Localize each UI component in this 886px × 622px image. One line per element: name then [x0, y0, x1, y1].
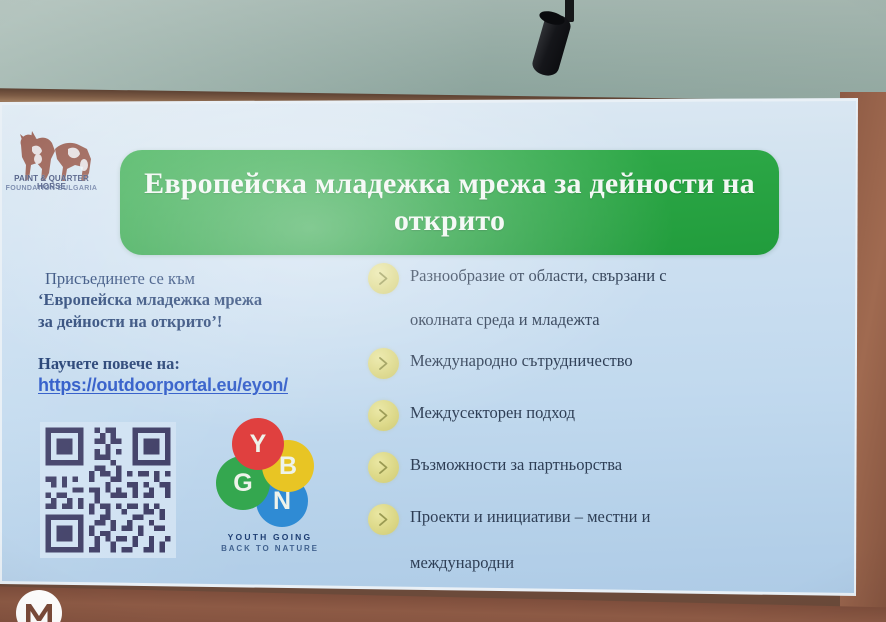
bullet-continuation: околната среда и младежта — [368, 310, 788, 330]
page-title: Европейска младежка мрежа за дейности на… — [120, 166, 779, 239]
chevron-right-icon — [368, 348, 399, 379]
ygn-circle-y: Y — [232, 418, 284, 470]
ceiling-shading — [0, 0, 886, 104]
bullet-text: Проекти и инициативи – местни и — [410, 503, 788, 527]
chevron-right-icon — [368, 263, 399, 294]
ygn-caption-line-2: BACK TO NATURE — [206, 544, 334, 553]
camera-watermark-bar: заснето с moto g54 5G — [0, 588, 886, 622]
motorola-logo-icon — [16, 590, 62, 622]
bullet-text: Междусекторен подход — [410, 399, 788, 423]
bullet-text: Възможности за партньорства — [410, 451, 788, 475]
list-item: Възможности за партньорства — [368, 451, 788, 483]
ygn-logo: Y B G N YOUTH GOING BACK TO NATURE — [210, 418, 330, 558]
learn-more-label: Научете повече на: — [38, 354, 358, 374]
bullet-text: Разнообразие от области, свързани с — [410, 262, 788, 286]
chevron-right-icon — [368, 504, 399, 535]
join-line-3: за дейности на открито’! — [38, 311, 358, 332]
join-line-1: Присъединете се към — [38, 268, 358, 289]
chevron-right-icon — [368, 452, 399, 483]
org-logo-subtitle: FOUNDATION BULGARIA — [3, 185, 100, 192]
bullet-continuation: международни — [368, 553, 788, 573]
slide-title-banner: Европейска младежка мрежа за дейности на… — [120, 150, 779, 255]
bullet-list: Разнообразие от области, свързани с окол… — [368, 262, 788, 573]
eyon-portal-link[interactable]: https://outdoorportal.eu/eyon/ — [38, 375, 288, 396]
join-invitation: Присъединете се към ‘Европейска младежка… — [38, 268, 358, 332]
left-column: Присъединете се към ‘Европейска младежка… — [38, 268, 358, 396]
list-item: Международно сътрудничество — [368, 347, 788, 379]
chevron-right-icon — [368, 400, 399, 431]
photo-scene: PAINT & QUARTER HORSE FOUNDATION BULGARI… — [0, 0, 886, 622]
list-item: Междусекторен подход — [368, 399, 788, 431]
bullet-text: Международно сътрудничество — [410, 347, 788, 371]
ygn-caption-line-1: YOUTH GOING — [206, 532, 334, 542]
list-item: Разнообразие от области, свързани с — [368, 262, 788, 294]
list-item: Проекти и инициативи – местни и — [368, 503, 788, 535]
qr-code[interactable] — [40, 422, 176, 558]
join-line-2: ‘Европейска младежка мрежа — [38, 289, 358, 310]
